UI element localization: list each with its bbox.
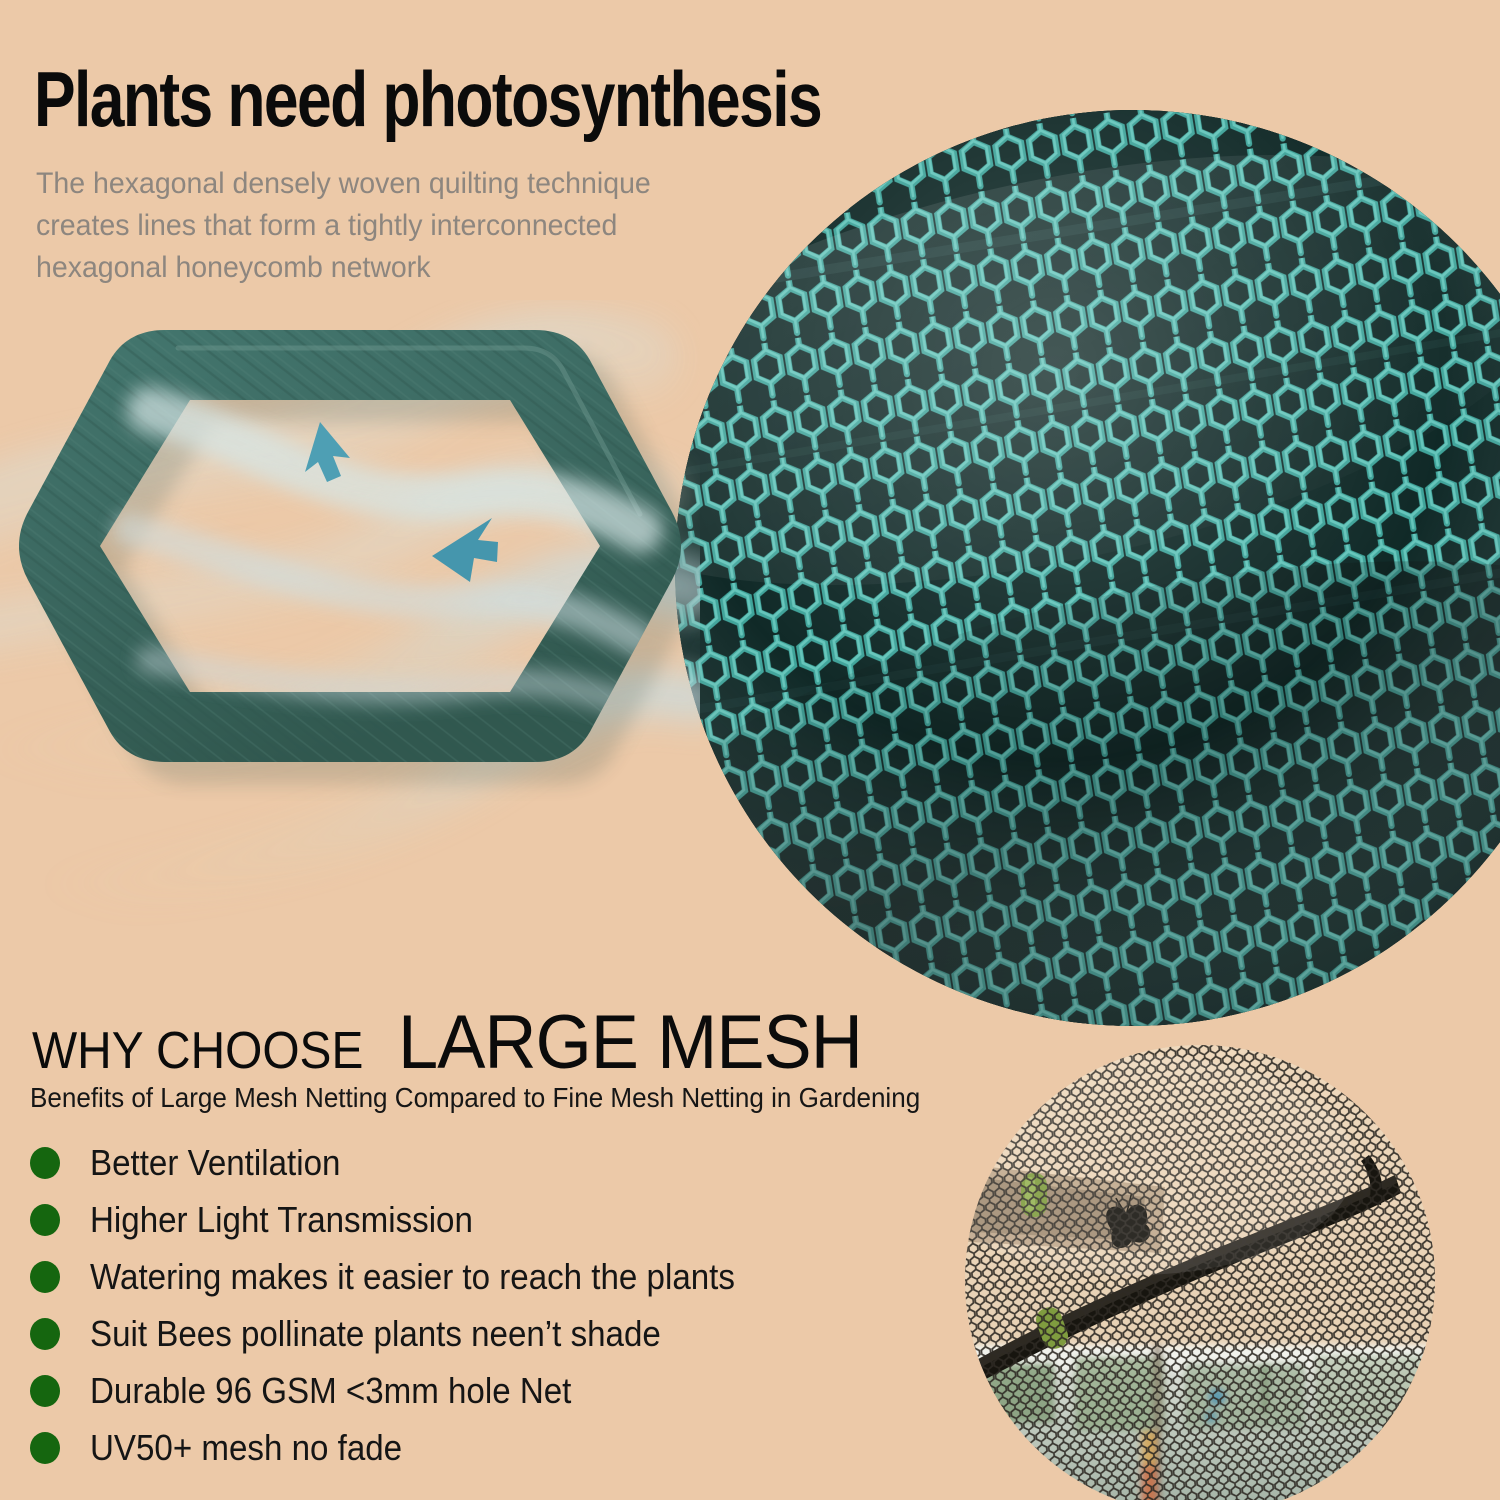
- list-item-label: Higher Light Transmission: [90, 1199, 473, 1241]
- bullet-dot-icon: [30, 1375, 60, 1407]
- page-headline: Plants need photosynthesis: [34, 60, 778, 138]
- benefits-subheading: Benefits of Large Mesh Netting Compared …: [30, 1082, 920, 1114]
- list-item-label: Better Ventilation: [90, 1142, 340, 1184]
- list-item-label: Durable 96 GSM <3mm hole Net: [90, 1370, 571, 1412]
- subhead-line-1: The hexagonal densely woven quilting tec…: [36, 163, 777, 205]
- benefits-list: Better Ventilation Higher Light Transmis…: [30, 1134, 950, 1476]
- list-item: UV50+ mesh no fade: [30, 1419, 950, 1476]
- subhead-line-2: creates lines that form a tightly interc…: [36, 205, 777, 247]
- black-fine-net-over-greenhouse-with-butterfly-icon: [965, 1045, 1435, 1500]
- list-item-label: Watering makes it easier to reach the pl…: [90, 1256, 735, 1298]
- net-photo-circle: [965, 1045, 1435, 1500]
- list-item: Watering makes it easier to reach the pl…: [30, 1248, 950, 1305]
- bullet-dot-icon: [30, 1432, 60, 1464]
- hexagon-airflow-illustration: [0, 300, 700, 960]
- bullet-dot-icon: [30, 1147, 60, 1179]
- bullet-dot-icon: [30, 1204, 60, 1236]
- list-item: Higher Light Transmission: [30, 1191, 950, 1248]
- why-choose-heading: WHY CHOOSELARGE MESH: [32, 1005, 887, 1081]
- list-item-label: UV50+ mesh no fade: [90, 1427, 402, 1469]
- bullet-dot-icon: [30, 1318, 60, 1350]
- list-item-label: Suit Bees pollinate plants neen’t shade: [90, 1313, 661, 1355]
- list-item: Better Ventilation: [30, 1134, 950, 1191]
- teal-honeycomb-mesh-closeup-icon: [675, 110, 1500, 1026]
- page-subhead: The hexagonal densely woven quilting tec…: [36, 163, 777, 289]
- subhead-line-3: hexagonal honeycomb network: [36, 247, 777, 289]
- bullet-dot-icon: [30, 1261, 60, 1293]
- list-item: Suit Bees pollinate plants neen’t shade: [30, 1305, 950, 1362]
- mesh-photo-circle: [675, 110, 1500, 1026]
- why-choose-small-text: WHY CHOOSE: [32, 1025, 363, 1077]
- infographic-canvas: Plants need photosynthesis The hexagonal…: [0, 0, 1500, 1500]
- why-choose-big-text: LARGE MESH: [398, 1005, 862, 1081]
- list-item: Durable 96 GSM <3mm hole Net: [30, 1362, 950, 1419]
